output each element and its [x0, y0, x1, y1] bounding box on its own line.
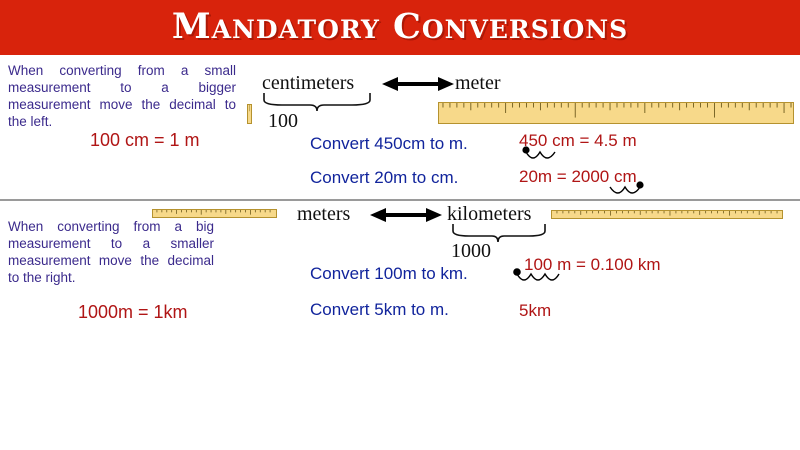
ruler-ticks	[552, 211, 782, 218]
brace-value-1000: 1000	[451, 240, 491, 263]
ruler-ticks	[248, 105, 251, 123]
double-arrow-icon-bottom	[370, 205, 442, 225]
brace-under-centimeters	[262, 92, 372, 112]
double-arrow-icon-top	[382, 74, 454, 94]
question-answer-4: 5km	[519, 301, 551, 321]
ruler-bottom-left	[152, 209, 277, 218]
question-prompt-2: Convert 20m to cm.	[310, 168, 458, 188]
top-rule-equation: 100 cm = 1 m	[90, 130, 200, 151]
question-prompt-3: Convert 100m to km.	[310, 264, 468, 284]
bottom-rule-equation: 1000m = 1km	[78, 302, 188, 323]
brace-value-100: 100	[268, 110, 298, 133]
bottom-explanation-text: When converting from a big measurement t…	[8, 218, 214, 286]
decimal-hop-marks-3	[511, 268, 567, 286]
unit-label-meter: meter	[455, 72, 501, 95]
page-title: Mandatory Conversions	[0, 0, 800, 55]
ruler-meter	[438, 102, 794, 124]
ruler-ticks	[153, 210, 276, 217]
ruler-centimeter	[247, 104, 252, 124]
decimal-hop-marks-2	[601, 181, 649, 199]
ruler-ticks	[439, 103, 793, 123]
decimal-hop-marks-1	[519, 146, 565, 164]
slide-canvas: Mandatory Conversions When converting fr…	[0, 0, 800, 450]
unit-label-meters: meters	[297, 203, 350, 226]
top-explanation-text: When converting from a small measurement…	[8, 62, 236, 130]
question-prompt-4: Convert 5km to m.	[310, 300, 449, 320]
ruler-bottom-right	[551, 210, 783, 219]
section-divider	[0, 199, 800, 201]
question-prompt-1: Convert 450cm to m.	[310, 134, 468, 154]
